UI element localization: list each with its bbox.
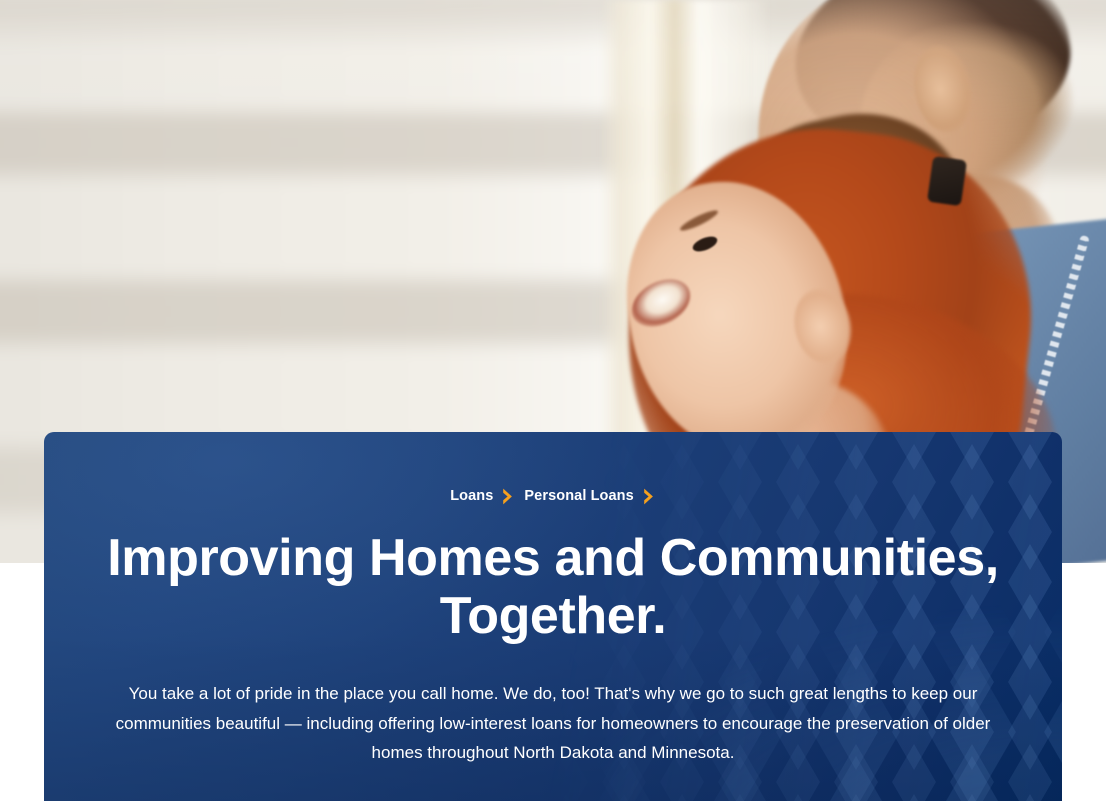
page-title: Improving Homes and Communities, Togethe… [104, 529, 1002, 645]
hero-page: Loans Personal Loans Improving Homes and… [0, 0, 1106, 801]
chevron-right-icon-2 [643, 488, 656, 505]
breadcrumb-item-loans[interactable]: Loans [450, 489, 493, 504]
hero-description: You take a lot of pride in the place you… [104, 679, 1002, 767]
hero-content: Loans Personal Loans Improving Homes and… [44, 432, 1062, 801]
breadcrumb-item-personal-loans[interactable]: Personal Loans [524, 489, 633, 504]
chevron-right-icon [502, 488, 515, 505]
hero-content-card: Loans Personal Loans Improving Homes and… [44, 432, 1062, 801]
hero-photo-woman-hair-tie [927, 156, 967, 206]
breadcrumb: Loans Personal Loans [104, 486, 1002, 506]
